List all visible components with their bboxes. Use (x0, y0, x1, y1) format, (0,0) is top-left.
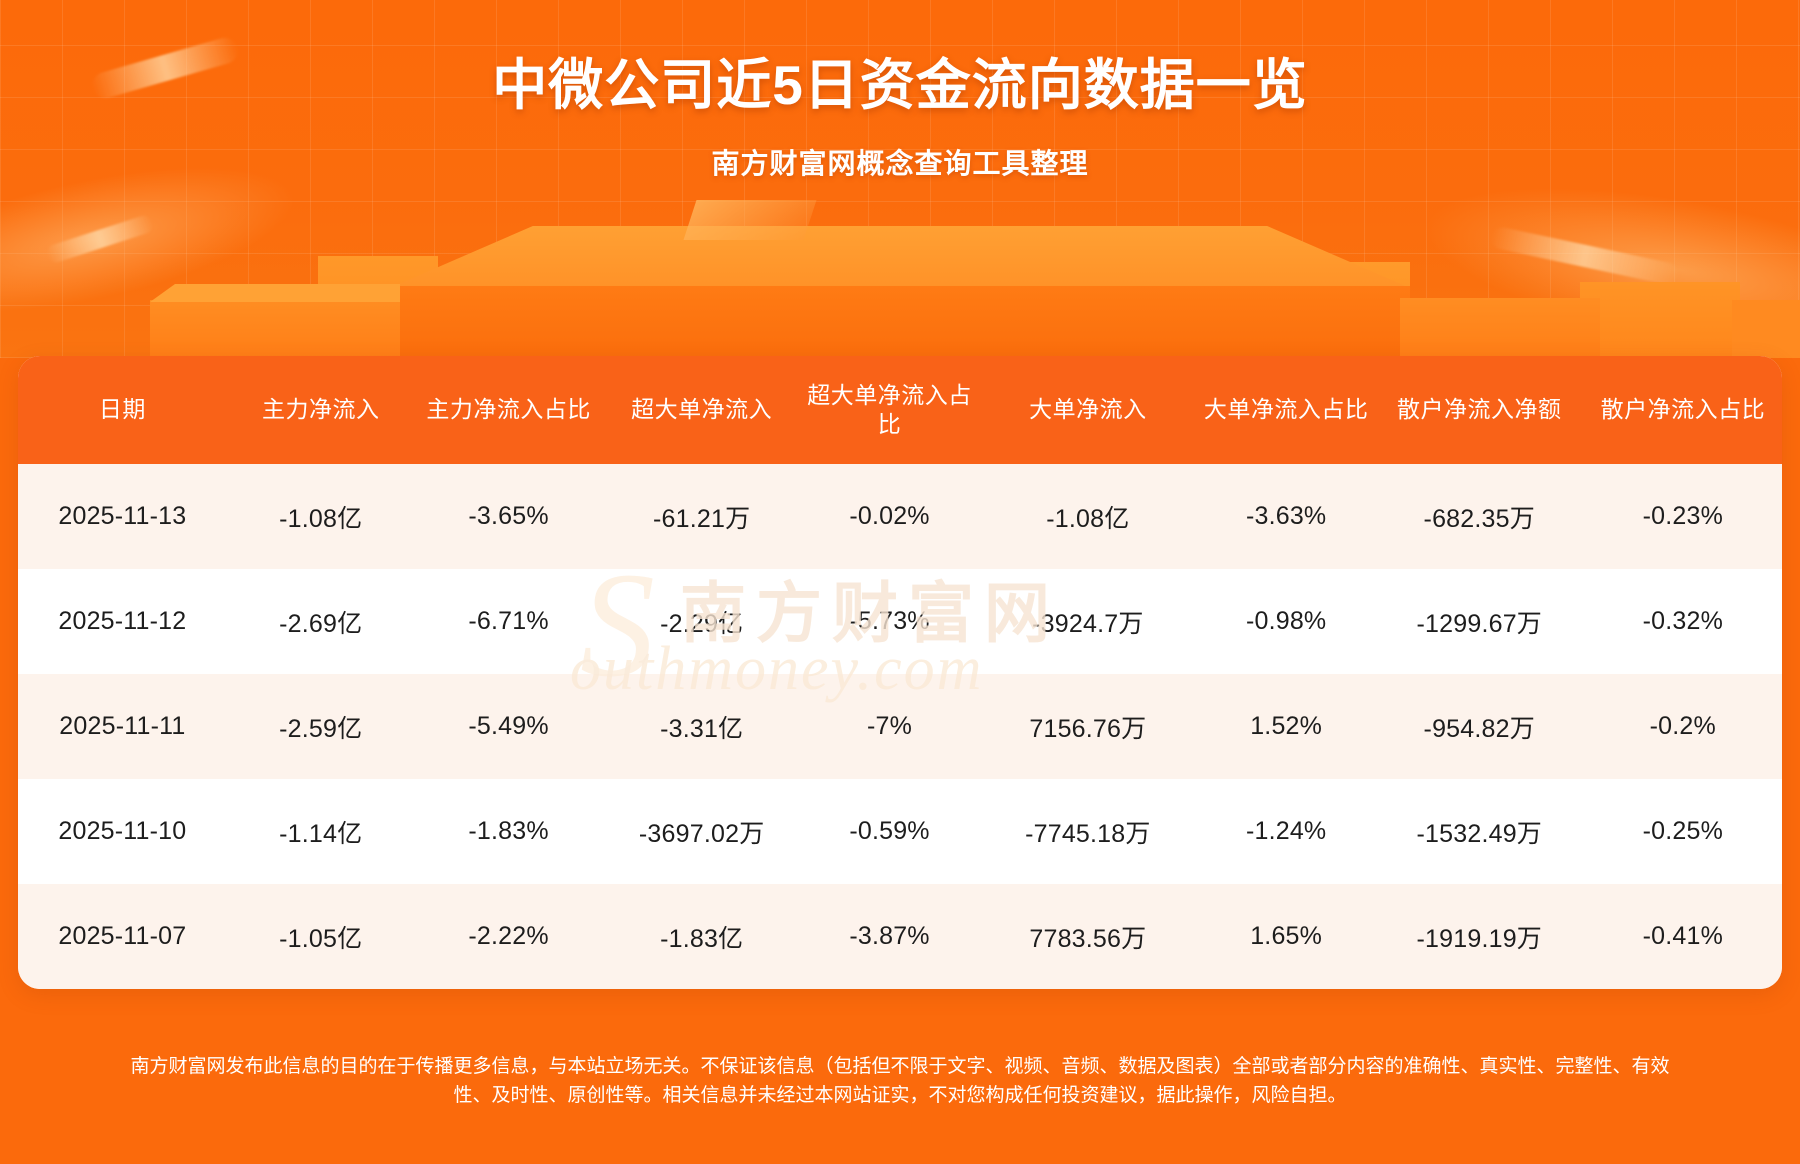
column-header-xlarge-net[interactable]: 超大单净流入 (603, 356, 801, 464)
pedestal-block-decoration (1732, 300, 1800, 358)
table-row: 2025-11-10 -1.14亿 -1.83% -3697.02万 -0.59… (18, 779, 1782, 884)
cell-xlarge-net: -1.83亿 (603, 884, 801, 989)
table-row: 2025-11-11 -2.59亿 -5.49% -3.31亿 -7% 7156… (18, 674, 1782, 779)
cell-main-pct: -1.83% (415, 779, 603, 884)
table-row: 2025-11-12 -2.69亿 -6.71% -2.29亿 -5.73% -… (18, 569, 1782, 674)
cell-large-net: -1.08亿 (978, 464, 1197, 569)
cell-xlarge-pct: -3.87% (801, 884, 978, 989)
column-header-xlarge-pct[interactable]: 超大单净流入占比 (801, 356, 978, 464)
column-header-large-pct[interactable]: 大单净流入占比 (1197, 356, 1374, 464)
cell-retail-net: -682.35万 (1375, 464, 1584, 569)
cell-retail-net: -1299.67万 (1375, 569, 1584, 674)
cell-xlarge-net: -2.29亿 (603, 569, 801, 674)
table-row: 2025-11-13 -1.08亿 -3.65% -61.21万 -0.02% … (18, 464, 1782, 569)
cell-date: 2025-11-07 (18, 884, 227, 989)
cell-retail-net: -1919.19万 (1375, 884, 1584, 989)
table-row: 2025-11-07 -1.05亿 -2.22% -1.83亿 -3.87% 7… (18, 884, 1782, 989)
column-header-retail-pct[interactable]: 散户净流入占比 (1584, 356, 1782, 464)
cell-large-pct: -0.98% (1197, 569, 1374, 674)
cell-large-net: 7156.76万 (978, 674, 1197, 779)
pedestal-block-decoration (1400, 298, 1600, 358)
cell-main-net: -1.14亿 (227, 779, 415, 884)
cell-main-pct: -6.71% (415, 569, 603, 674)
cell-retail-pct: -0.41% (1584, 884, 1782, 989)
data-table-card: 日期 主力净流入 主力净流入占比 超大单净流入 超大单净流入占比 大单净流入 大… (18, 356, 1782, 989)
pedestal-block-decoration (1580, 282, 1740, 358)
cell-xlarge-pct: -5.73% (801, 569, 978, 674)
cell-main-pct: -5.49% (415, 674, 603, 779)
column-header-main-pct[interactable]: 主力净流入占比 (415, 356, 603, 464)
column-header-retail-net[interactable]: 散户净流入净额 (1375, 356, 1584, 464)
cell-retail-net: -1532.49万 (1375, 779, 1584, 884)
table-header-row: 日期 主力净流入 主力净流入占比 超大单净流入 超大单净流入占比 大单净流入 大… (18, 356, 1782, 464)
pedestal-block-decoration (150, 300, 400, 358)
cell-date: 2025-11-13 (18, 464, 227, 569)
cell-main-pct: -2.22% (415, 884, 603, 989)
cell-date: 2025-11-11 (18, 674, 227, 779)
cell-retail-pct: -0.2% (1584, 674, 1782, 779)
cell-xlarge-pct: -0.59% (801, 779, 978, 884)
cell-large-net: 7783.56万 (978, 884, 1197, 989)
column-header-main-net[interactable]: 主力净流入 (227, 356, 415, 464)
disclaimer: 南方财富网发布此信息的目的在于传播更多信息，与本站立场无关。不保证该信息（包括但… (0, 1052, 1800, 1111)
cell-retail-pct: -0.23% (1584, 464, 1782, 569)
cell-date: 2025-11-12 (18, 569, 227, 674)
cell-retail-pct: -0.32% (1584, 569, 1782, 674)
cell-retail-net: -954.82万 (1375, 674, 1584, 779)
pedestal-main-decoration (390, 286, 1410, 358)
cell-large-pct: -1.24% (1197, 779, 1374, 884)
cell-main-net: -2.59亿 (227, 674, 415, 779)
fund-flow-table: 日期 主力净流入 主力净流入占比 超大单净流入 超大单净流入占比 大单净流入 大… (18, 356, 1782, 989)
cell-main-net: -1.08亿 (227, 464, 415, 569)
column-header-date[interactable]: 日期 (18, 356, 227, 464)
page-root: 中微公司近5日资金流向数据一览 南方财富网概念查询工具整理 S 南方财富网 ou… (0, 0, 1800, 1164)
cell-xlarge-net: -61.21万 (603, 464, 801, 569)
disclaimer-line-1: 南方财富网发布此信息的目的在于传播更多信息，与本站立场无关。不保证该信息（包括但… (14, 1052, 1786, 1081)
cell-xlarge-pct: -7% (801, 674, 978, 779)
cell-main-net: -1.05亿 (227, 884, 415, 989)
cell-large-net: -3924.7万 (978, 569, 1197, 674)
cell-large-pct: -3.63% (1197, 464, 1374, 569)
column-header-large-net[interactable]: 大单净流入 (978, 356, 1197, 464)
page-title: 中微公司近5日资金流向数据一览 (0, 40, 1800, 120)
cell-xlarge-net: -3.31亿 (603, 674, 801, 779)
pedestal-facet-decoration (684, 200, 817, 240)
cell-large-net: -7745.18万 (978, 779, 1197, 884)
cell-xlarge-pct: -0.02% (801, 464, 978, 569)
cell-main-net: -2.69亿 (227, 569, 415, 674)
cell-xlarge-net: -3697.02万 (603, 779, 801, 884)
page-subtitle: 南方财富网概念查询工具整理 (0, 142, 1800, 182)
cell-large-pct: 1.52% (1197, 674, 1374, 779)
cell-retail-pct: -0.25% (1584, 779, 1782, 884)
cell-date: 2025-11-10 (18, 779, 227, 884)
cell-large-pct: 1.65% (1197, 884, 1374, 989)
pedestal-top-decoration (390, 226, 1410, 288)
cell-main-pct: -3.65% (415, 464, 603, 569)
disclaimer-line-2: 性、及时性、原创性等。相关信息并未经过本网站证实，不对您构成任何投资建议，据此操… (14, 1081, 1786, 1110)
